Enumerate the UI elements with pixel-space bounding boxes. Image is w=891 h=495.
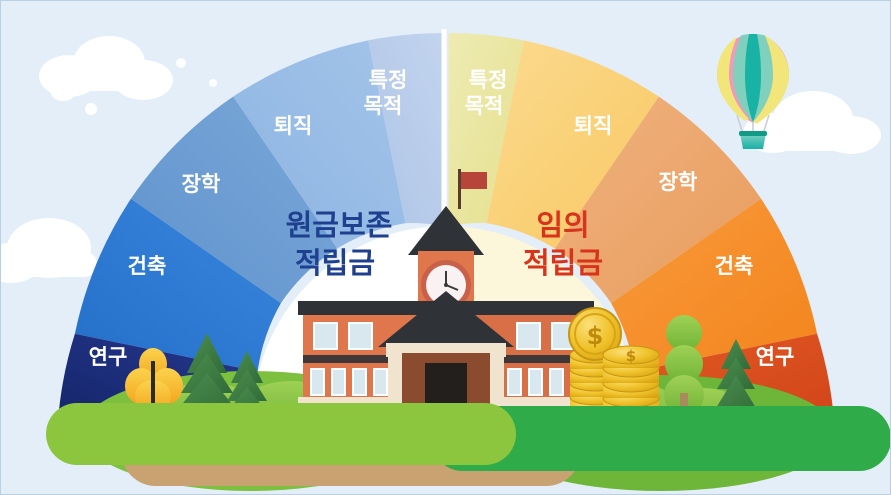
left-label-1: 건축 [128,254,167,278]
right-title-line1: 임의 [536,208,589,242]
flag-pole [458,169,461,209]
right-label-0: 연구 [756,345,795,369]
right-title-line2: 적립금 [523,246,603,280]
cloud-dot-a [176,58,186,68]
portico-column-right [490,353,504,405]
flag [461,172,487,189]
cloud-dot-b [209,79,217,87]
right-label-1: 건축 [715,254,754,278]
left-label-4-line2: 목적 [364,94,403,118]
right-label-3: 퇴직 [574,114,613,138]
left-label-4-line1: 특정 [369,68,408,92]
right-label-4-line2: 목적 [465,94,504,118]
left-title-line2: 적립금 [295,246,375,280]
entry-door [425,363,467,409]
right-label-2: 장학 [659,170,698,194]
portico-column-left [388,353,402,405]
left-label-3: 퇴직 [274,114,313,138]
infographic-svg: 특정 목적 퇴직 장학 건축 연구 특정 목적 퇴직 장학 건축 연구 원금보존… [1,1,891,495]
left-label-2: 장학 [182,172,221,196]
left-label-0: 연구 [89,345,128,369]
infographic-canvas: 특정 목적 퇴직 장학 건축 연구 특정 목적 퇴직 장학 건축 연구 원금보존… [0,0,891,495]
coin-front-dollar-symbol: $ [626,347,636,365]
ground-bar-light-green [46,403,516,465]
coin-dollar-symbol: $ [587,322,604,350]
left-title-line1: 원금보존 [286,208,393,242]
right-label-4-line1: 특정 [469,68,508,92]
